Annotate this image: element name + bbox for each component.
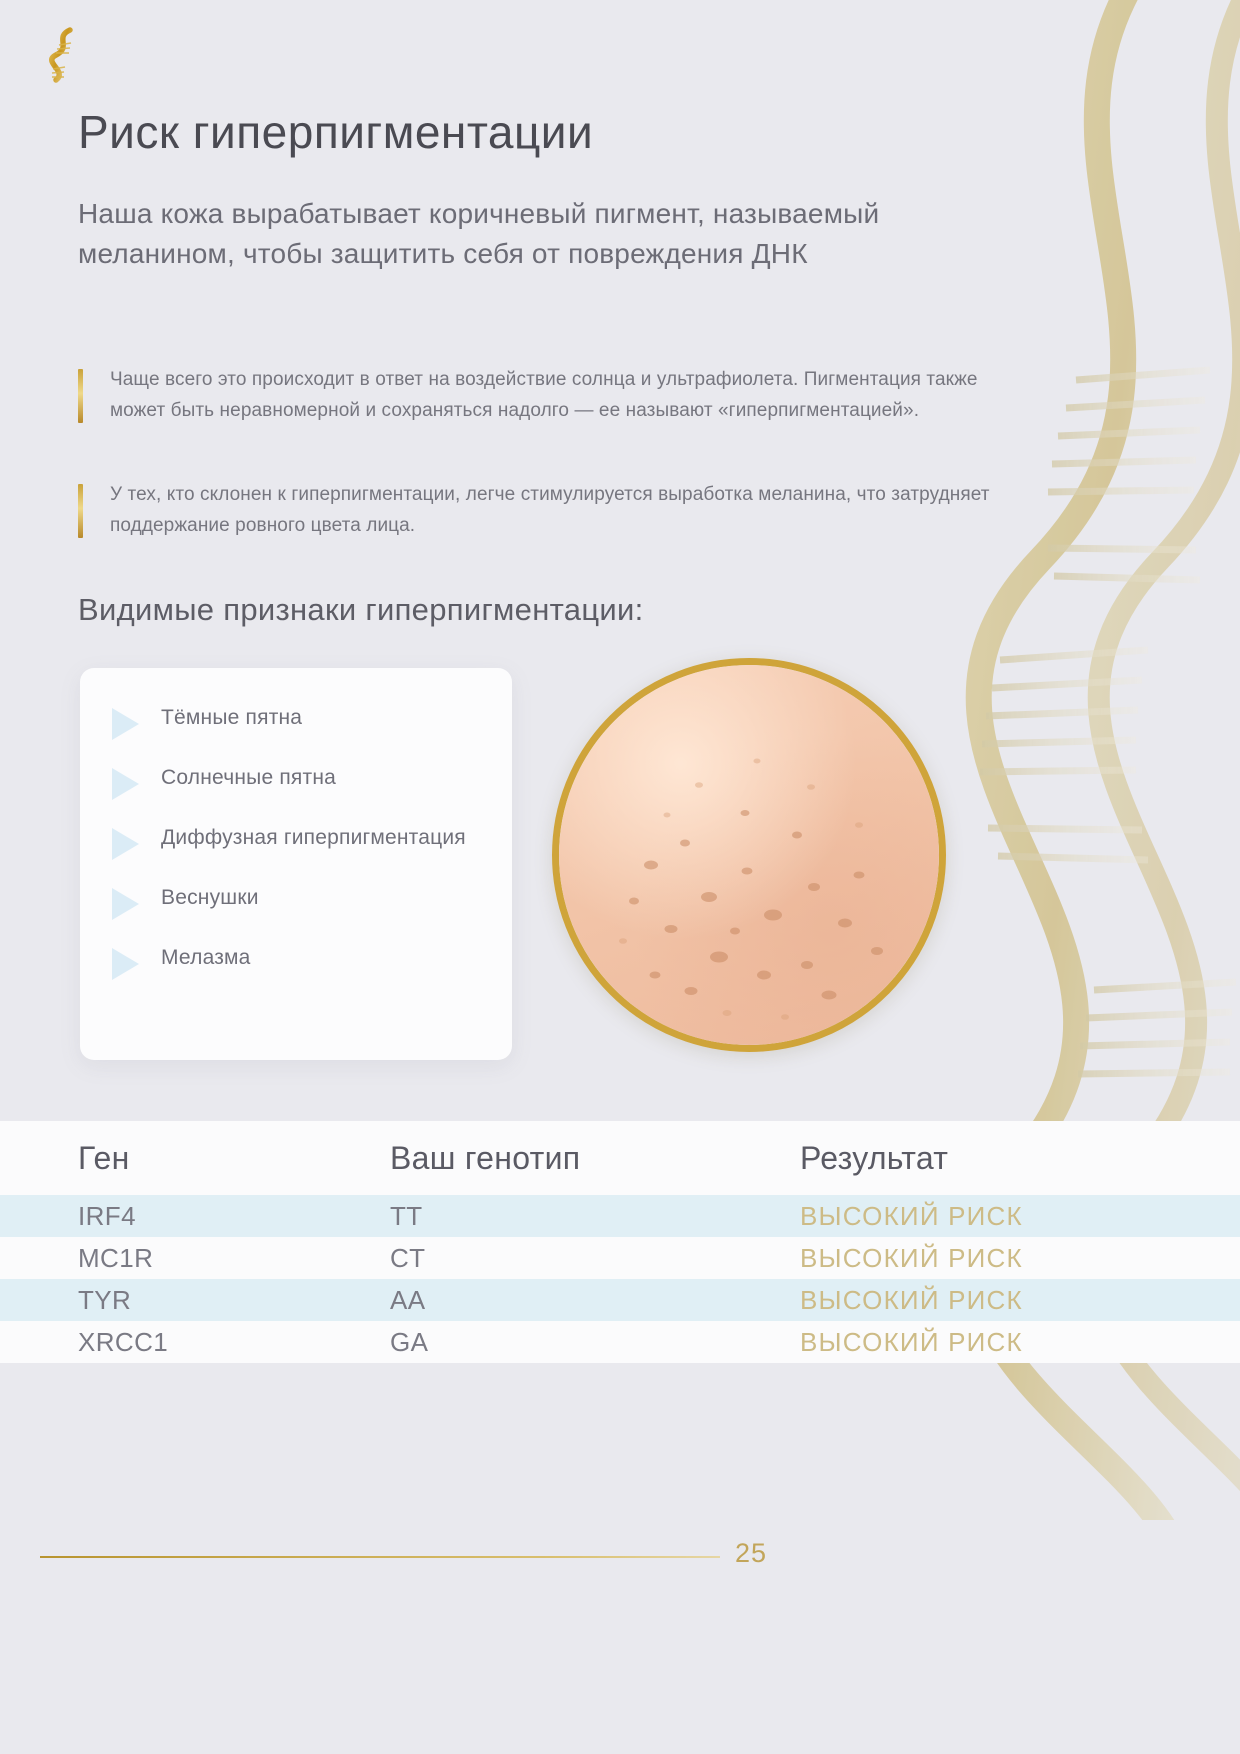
triangle-bullet-icon xyxy=(112,948,139,980)
page-number: 25 xyxy=(735,1538,767,1569)
table-row: MC1R CT ВЫСОКИЙ РИСК xyxy=(0,1237,1240,1279)
lead-paragraph: Наша кожа вырабатывает коричневый пигмен… xyxy=(78,194,958,274)
triangle-bullet-icon xyxy=(112,888,139,920)
page-footer: 25 xyxy=(0,1556,1240,1558)
triangle-bullet-icon xyxy=(112,708,139,740)
status-badge: ВЫСОКИЙ РИСК xyxy=(800,1285,1240,1316)
cell-gene: MC1R xyxy=(78,1243,390,1274)
cell-gene: XRCC1 xyxy=(78,1327,390,1358)
sign-label: Веснушки xyxy=(161,882,259,914)
dna-helix-icon xyxy=(40,25,86,85)
cell-gene: TYR xyxy=(78,1285,390,1316)
cell-genotype: CT xyxy=(390,1243,800,1274)
footer-divider xyxy=(40,1556,720,1558)
quote-text-1: Чаще всего это происходит в ответ на воз… xyxy=(110,365,1018,427)
table-row: TYR AA ВЫСОКИЙ РИСК xyxy=(0,1279,1240,1321)
list-item: Солнечные пятна xyxy=(108,762,482,800)
sign-label: Тёмные пятна xyxy=(161,702,302,734)
table-row: XRCC1 GA ВЫСОКИЙ РИСК xyxy=(0,1321,1240,1363)
list-item: Веснушки xyxy=(108,882,482,920)
quote-text-2: У тех, кто склонен к гиперпигментации, л… xyxy=(110,480,1018,542)
sign-label: Мелазма xyxy=(161,942,251,974)
sign-label: Диффузная гиперпигментация xyxy=(161,822,466,854)
quote-block-2: У тех, кто склонен к гиперпигментации, л… xyxy=(78,480,1018,542)
triangle-bullet-icon xyxy=(112,828,139,860)
cell-genotype: GA xyxy=(390,1327,800,1358)
list-item: Диффузная гиперпигментация xyxy=(108,822,482,860)
list-item: Тёмные пятна xyxy=(108,702,482,740)
column-header-genotype: Ваш генотип xyxy=(390,1140,800,1177)
column-header-result: Результат xyxy=(800,1140,1240,1177)
skin-hyperpigmentation-photo xyxy=(552,658,946,1052)
cell-genotype: AA xyxy=(390,1285,800,1316)
list-item: Мелазма xyxy=(108,942,482,980)
table-header-row: Ген Ваш генотип Результат xyxy=(0,1121,1240,1195)
freckle-spots xyxy=(559,665,939,1045)
genotype-results-table: Ген Ваш генотип Результат IRF4 TT ВЫСОКИ… xyxy=(0,1121,1240,1363)
page-title: Риск гиперпигментации xyxy=(78,105,593,159)
report-page: Риск гиперпигментации Наша кожа вырабаты… xyxy=(0,0,1240,1754)
quote-block-1: Чаще всего это происходит в ответ на воз… xyxy=(78,365,1018,427)
column-header-gene: Ген xyxy=(78,1140,390,1177)
triangle-bullet-icon xyxy=(112,768,139,800)
gold-accent-bar xyxy=(78,369,83,423)
cell-genotype: TT xyxy=(390,1201,800,1232)
gold-accent-bar xyxy=(78,484,83,538)
status-badge: ВЫСОКИЙ РИСК xyxy=(800,1327,1240,1358)
cell-gene: IRF4 xyxy=(78,1201,390,1232)
table-row: IRF4 TT ВЫСОКИЙ РИСК xyxy=(0,1195,1240,1237)
section-title-signs: Видимые признаки гиперпигментации: xyxy=(78,592,644,628)
sign-label: Солнечные пятна xyxy=(161,762,336,794)
status-badge: ВЫСОКИЙ РИСК xyxy=(800,1243,1240,1274)
status-badge: ВЫСОКИЙ РИСК xyxy=(800,1201,1240,1232)
signs-card: Тёмные пятна Солнечные пятна Диффузная г… xyxy=(80,668,512,1060)
